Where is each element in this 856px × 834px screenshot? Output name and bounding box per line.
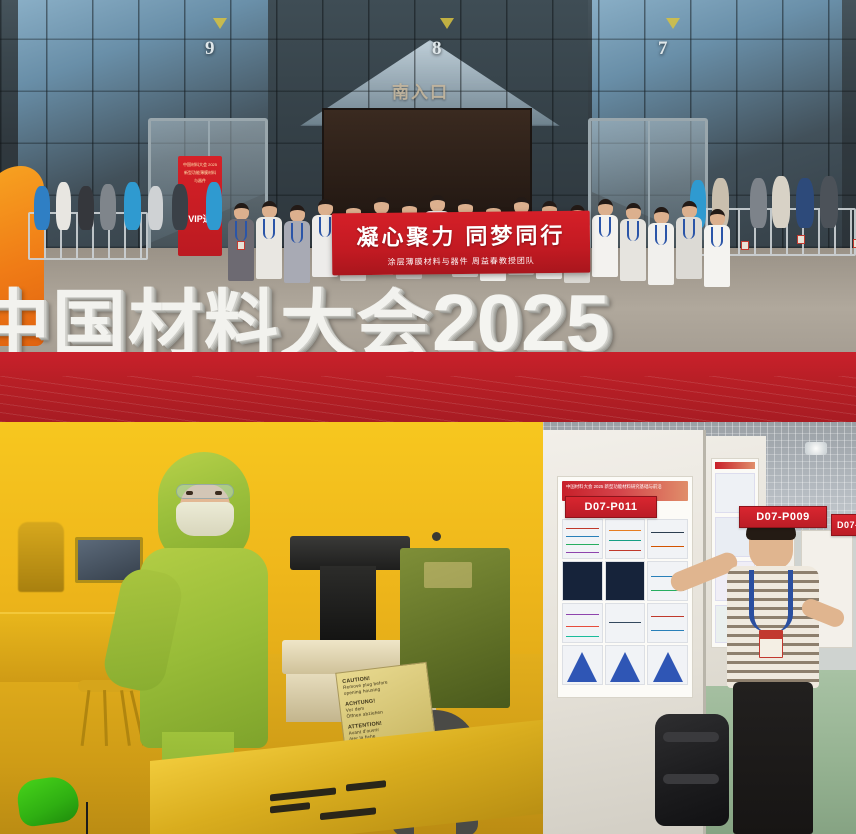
conference-floor-sign: 中 国 材 料 大 会 2025 [0, 268, 856, 360]
conference-lanyard [749, 570, 793, 632]
crowd-person [796, 178, 814, 228]
poster-figure [562, 603, 603, 643]
poster-session-photo: 中国材料大会 2025 新型功能材料研究基础与前沿 薄膜材料的力学性能研究 [543, 422, 856, 834]
sign-year: 2025 [432, 285, 610, 360]
table-slot [270, 787, 336, 801]
background-microscope [18, 522, 64, 592]
team-banner-sub-text: 涂层薄膜材料与器件 周益春教授团队 [388, 255, 535, 268]
conference-entrance-group-photo: 9 8 7 南入口 中国材料大会 2025 新型功能薄膜材料 与器件 VIP通 [0, 0, 856, 422]
conference-badge [759, 630, 783, 658]
table-slot [270, 802, 310, 813]
poster-figure [647, 603, 688, 643]
poster-micrograph [562, 561, 603, 601]
sign-char-6: 会 [356, 289, 430, 360]
red-carpet [0, 352, 856, 422]
table-slot [320, 807, 376, 820]
backpack-strap [663, 732, 719, 742]
poster-figure-grid [562, 519, 688, 693]
poster-figure [605, 603, 646, 643]
sign-char-5: 大 [280, 289, 354, 360]
bay-number-7: 7 [658, 38, 668, 60]
bay-number-9: 9 [205, 38, 215, 60]
vip-sign-subheader: 新型功能薄膜材料 [181, 170, 219, 176]
team-banner: 凝心聚力 同梦同行 涂层薄膜材料与器件 周益春教授团队 [332, 211, 591, 276]
bay-number-8: 8 [432, 38, 442, 60]
crowd-person [100, 184, 116, 230]
safety-goggles [176, 484, 234, 499]
researcher-at-poster [715, 518, 845, 834]
crowd-person [172, 184, 188, 230]
poster-ternary-diagram [647, 645, 688, 685]
poster-micrograph [605, 561, 646, 601]
crowd-person [750, 178, 767, 228]
crowd-person [148, 186, 163, 230]
bay-marker-triangle-9 [213, 18, 227, 29]
team-banner-main-text: 凝心聚力 同梦同行 [356, 218, 565, 252]
sign-char-1: 中 [0, 289, 50, 360]
crowd-person [772, 176, 790, 228]
crowd-person [56, 182, 71, 230]
poster-ternary-diagram [605, 645, 646, 685]
photo-collage: 9 8 7 南入口 中国材料大会 2025 新型功能薄膜材料 与器件 VIP通 [0, 0, 856, 834]
poster-label-d07-partial: D07-P [831, 514, 856, 536]
bay-marker-triangle-8 [440, 18, 454, 29]
poster-ternary-diagram [562, 645, 603, 685]
backpack-strap [663, 774, 719, 784]
sign-char-2: 国 [52, 289, 126, 360]
sign-char-3: 材 [128, 289, 202, 360]
crowd-person [34, 186, 50, 230]
cabinet-window [424, 562, 472, 588]
instrument-head [290, 536, 410, 570]
crowd-person [78, 186, 94, 230]
researcher-pants [733, 682, 813, 834]
poster-figure [562, 519, 603, 559]
crowd-person [820, 176, 838, 228]
cleanroom-lab-photo: ☀ ⚡ ⚡ CAUTION! Remove plug before openin… [0, 422, 543, 834]
instrument-cable [86, 802, 88, 834]
poster-figure [605, 519, 646, 559]
ceiling-light [805, 442, 827, 455]
crowd-person [206, 182, 222, 230]
group-member [592, 199, 618, 277]
backpack [655, 714, 729, 826]
crowd-person [124, 182, 141, 230]
face-mask [176, 502, 234, 536]
poster-label-d07-p009: D07-P009 [739, 506, 827, 528]
table-slot [346, 780, 386, 791]
poster-label-d07-p011: D07-P011 [565, 496, 657, 518]
cabinet-knob[interactable] [432, 532, 441, 541]
south-entrance-label: 南入口 [392, 78, 449, 103]
sign-char-4: 料 [204, 289, 278, 360]
vip-sign-header: 中国材料大会 2025 [181, 162, 219, 168]
instrument-column [320, 566, 376, 640]
bay-marker-triangle-7 [666, 18, 680, 29]
poster-figure [647, 519, 688, 559]
